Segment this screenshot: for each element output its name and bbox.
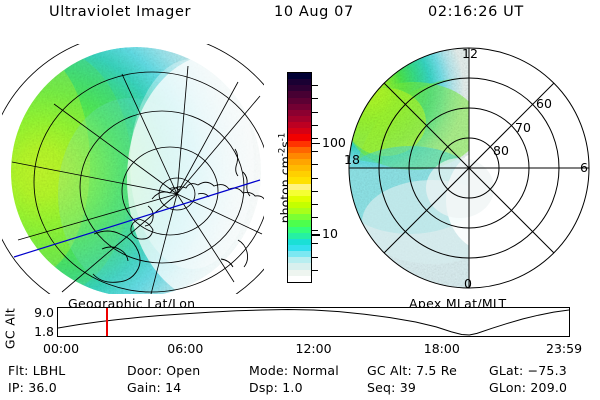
apex-mlat-mlt-panel[interactable]: 12 6 0 18 60 70 80	[340, 40, 598, 296]
gc-alt-tick-min: 1.8	[26, 326, 54, 339]
mlt-label-12: 12	[462, 48, 478, 61]
intensity-colorbar-panel: photon cm-2s-1 10010	[266, 60, 342, 296]
gc-alt-tick-max: 9.0	[26, 307, 54, 320]
time-tick-0600: 06:00	[167, 343, 203, 356]
colorbar-tick	[312, 85, 318, 86]
colorbar-band	[288, 276, 311, 282]
observation-date: 10 Aug 07	[274, 4, 354, 20]
colorbar-tick	[312, 191, 318, 192]
mlt-dial-svg	[340, 40, 598, 296]
mlat-ring-label-70: 70	[515, 122, 531, 135]
mlt-label-6: 6	[580, 162, 588, 175]
mlat-ring-label-80: 80	[493, 145, 509, 158]
colorbar-tick	[312, 151, 318, 152]
time-tick-1800: 18:00	[424, 343, 460, 356]
orbit-altitude-plot[interactable]	[57, 307, 570, 337]
mlt-dial-grid	[349, 48, 589, 288]
colorbar-tick-major	[312, 234, 320, 236]
uvi-display-window: Ultraviolet Imager 10 Aug 07 02:16:26 UT	[0, 0, 600, 400]
geographic-projection-svg	[2, 44, 264, 294]
status-flt: Flt: LBHL	[8, 365, 65, 378]
status-dsp: Dsp: 1.0	[249, 382, 303, 395]
colorbar-gradient	[287, 72, 312, 283]
instrument-title: Ultraviolet Imager	[49, 4, 191, 20]
status-mode: Mode: Normal	[249, 365, 339, 378]
colorbar-tick	[312, 164, 318, 165]
status-door: Door: Open	[127, 365, 200, 378]
colorbar-tick	[312, 204, 318, 205]
colorbar-tick	[312, 112, 318, 113]
mlat-ring-label-60: 60	[536, 98, 552, 111]
aurora-image-data	[2, 47, 264, 294]
colorbar-tick	[312, 125, 318, 126]
time-axis: 00:0006:0012:0018:0023:59	[0, 343, 600, 359]
colorbar-tick	[312, 243, 318, 244]
observation-time: 02:16:26 UT	[428, 4, 524, 20]
colorbar-label-10: 10	[322, 228, 338, 241]
time-tick-2359: 23:59	[546, 343, 582, 356]
orbit-altitude-curve	[58, 308, 569, 336]
colorbar-tick-major	[312, 143, 320, 145]
mlt-label-0: 0	[464, 278, 472, 291]
status-glat: GLat: −75.3	[489, 365, 567, 378]
colorbar-tick	[312, 257, 318, 258]
geographic-image-panel[interactable]	[2, 44, 264, 294]
status-seq: Seq: 39	[367, 382, 416, 395]
status-gain: Gain: 14	[127, 382, 181, 395]
status-ip: IP: 36.0	[8, 382, 57, 395]
header-bar: Ultraviolet Imager 10 Aug 07 02:16:26 UT	[0, 4, 600, 30]
status-footer: Flt: LBHL Door: Open Mode: Normal GC Alt…	[0, 363, 600, 399]
colorbar-tick	[312, 178, 318, 179]
gc-altitude-strip[interactable]: GC Alt 9.0 1.8	[0, 305, 600, 341]
colorbar-tick-marks	[312, 72, 320, 283]
status-gc-alt: GC Alt: 7.5 Re	[367, 365, 457, 378]
time-tick-1200: 12:00	[296, 343, 332, 356]
colorbar-tick	[312, 138, 318, 139]
colorbar-tick	[312, 98, 318, 99]
status-glon: GLon: 209.0	[489, 382, 567, 395]
time-tick-0000: 00:00	[43, 343, 79, 356]
colorbar-tick	[312, 230, 318, 231]
colorbar-tick	[312, 270, 318, 271]
mlt-label-18: 18	[344, 154, 360, 167]
colorbar-tick	[312, 217, 318, 218]
current-time-cursor[interactable]	[106, 308, 108, 336]
